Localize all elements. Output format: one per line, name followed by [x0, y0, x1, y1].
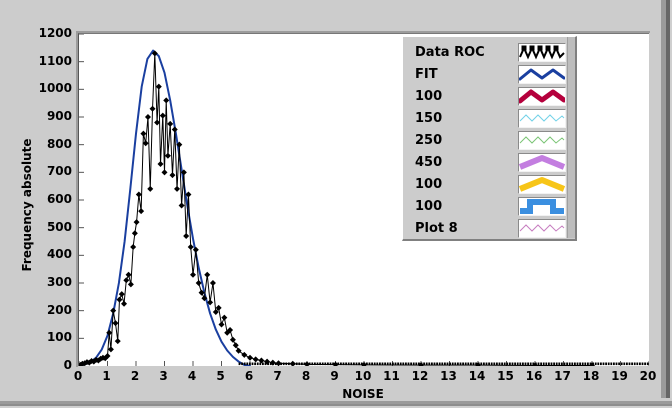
legend-item-label: Data ROC: [415, 45, 518, 60]
legend-item-label: 450: [415, 155, 518, 170]
legend-item-label: Plot 8: [415, 221, 518, 236]
legend-item-swatch[interactable]: [518, 153, 566, 172]
x-tick-label: 12: [405, 369, 435, 383]
legend-item-swatch[interactable]: [518, 131, 566, 150]
x-tick-label: 10: [348, 369, 378, 383]
legend-item-label: 150: [415, 111, 518, 126]
legend-item-label: 100: [415, 177, 518, 192]
y-tick-label: 1200: [26, 28, 72, 38]
legend-item[interactable]: 450: [403, 151, 575, 173]
legend-scrollbar[interactable]: [567, 37, 575, 238]
legend-item[interactable]: 100: [403, 173, 575, 195]
legend-item[interactable]: 100: [403, 195, 575, 217]
legend-item-label: 100: [415, 89, 518, 104]
y-axis-label: Frequency absolute: [20, 125, 34, 285]
legend-item[interactable]: 100: [403, 85, 575, 107]
plot-legend[interactable]: Data ROCFIT100150250450100100Plot 8: [402, 36, 577, 241]
x-axis-ticks: 01234567891011121314151617181920: [78, 369, 650, 385]
window-bevel-bottom: [0, 398, 672, 408]
xy-graph[interactable]: 0100200300400500600700800900100011001200…: [0, 0, 660, 398]
x-tick-label: 6: [234, 369, 264, 383]
x-tick-label: 16: [519, 369, 549, 383]
legend-item-swatch[interactable]: [518, 87, 566, 106]
x-tick-label: 0: [63, 369, 93, 383]
x-tick-label: 17: [548, 369, 578, 383]
x-tick-label: 5: [206, 369, 236, 383]
legend-item-swatch[interactable]: [518, 43, 566, 62]
x-tick-label: 18: [576, 369, 606, 383]
graph-window: 0100200300400500600700800900100011001200…: [0, 0, 672, 408]
x-tick-label: 19: [605, 369, 635, 383]
legend-item[interactable]: Data ROC: [403, 41, 575, 63]
x-tick-label: 8: [291, 369, 321, 383]
x-tick-label: 7: [263, 369, 293, 383]
legend-item-swatch[interactable]: [518, 197, 566, 216]
x-tick-label: 11: [377, 369, 407, 383]
x-tick-label: 15: [491, 369, 521, 383]
x-tick-label: 1: [92, 369, 122, 383]
legend-item-label: 100: [415, 199, 518, 214]
x-tick-label: 13: [434, 369, 464, 383]
x-tick-label: 3: [149, 369, 179, 383]
x-tick-label: 14: [462, 369, 492, 383]
legend-item-swatch[interactable]: [518, 109, 566, 128]
legend-item-swatch[interactable]: [518, 219, 566, 238]
legend-item-swatch[interactable]: [518, 175, 566, 194]
legend-item-swatch[interactable]: [518, 65, 566, 84]
y-tick-label: 900: [26, 111, 72, 121]
y-tick-label: 1100: [26, 56, 72, 66]
legend-item[interactable]: 250: [403, 129, 575, 151]
legend-item-label: 250: [415, 133, 518, 148]
legend-items-container: Data ROCFIT100150250450100100Plot 8: [403, 41, 575, 239]
legend-item-label: FIT: [415, 67, 518, 82]
y-tick-label: 100: [26, 332, 72, 342]
x-tick-label: 4: [177, 369, 207, 383]
x-tick-label: 2: [120, 369, 150, 383]
legend-item[interactable]: 150: [403, 107, 575, 129]
legend-item[interactable]: FIT: [403, 63, 575, 85]
y-tick-label: 200: [26, 305, 72, 315]
window-bevel-right: [658, 0, 672, 408]
y-tick-label: 1000: [26, 83, 72, 93]
x-tick-label: 9: [320, 369, 350, 383]
legend-item[interactable]: Plot 8: [403, 217, 575, 239]
